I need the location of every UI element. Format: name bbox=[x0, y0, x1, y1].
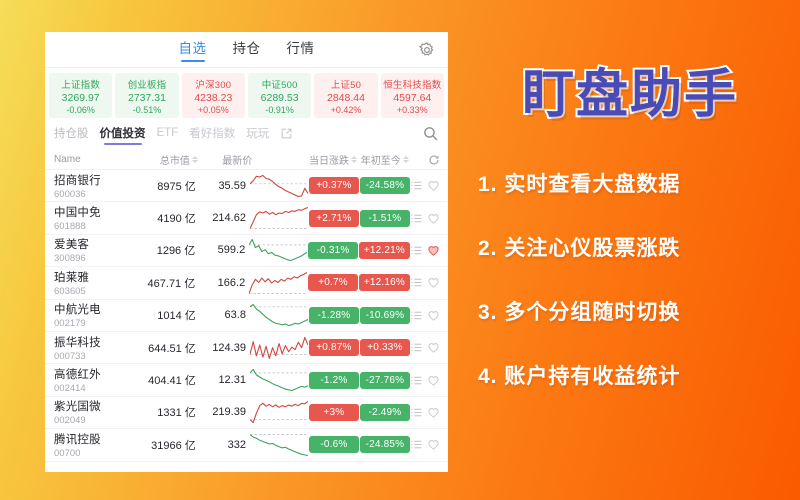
filter-tab-row: 持仓股 价值投资 ETF 看好指数 玩玩 bbox=[45, 122, 448, 150]
stock-sparkline-chart bbox=[250, 367, 308, 393]
stock-code: 000733 bbox=[54, 351, 137, 362]
stock-ytd-change-cell: +12.21% bbox=[359, 242, 410, 259]
index-card-zz500[interactable]: 中证500 6289.53 -0.91% bbox=[248, 73, 311, 118]
stock-identity: 腾讯控股00700 bbox=[54, 431, 137, 459]
sort-icon[interactable] bbox=[403, 156, 409, 163]
list-menu-icon[interactable] bbox=[410, 244, 423, 257]
ytd-change-badge: -1.51% bbox=[360, 210, 410, 227]
promo-panel: 盯盘助手 1. 实时查看大盘数据 2. 关注心仪股票涨跌 3. 多个分组随时切换… bbox=[460, 0, 800, 500]
favorite-heart-icon[interactable] bbox=[427, 309, 440, 322]
list-menu-icon[interactable] bbox=[410, 212, 423, 225]
index-value: 6289.53 bbox=[261, 92, 299, 104]
index-value: 4597.64 bbox=[393, 92, 431, 104]
index-name: 沪深300 bbox=[195, 77, 231, 91]
promo-title: 盯盘助手 bbox=[460, 52, 800, 127]
stock-sparkline-chart bbox=[250, 335, 308, 361]
table-row[interactable]: 中国中免6018884190 亿214.62+2.71%-1.51% bbox=[45, 202, 448, 234]
row-actions bbox=[410, 244, 440, 257]
row-actions bbox=[410, 212, 440, 225]
table-row[interactable]: 招商银行6000368975 亿35.59+0.37%-24.58% bbox=[45, 170, 448, 202]
index-name: 中证500 bbox=[262, 77, 298, 91]
day-change-badge: -1.28% bbox=[309, 307, 359, 324]
ytd-change-badge: -24.85% bbox=[360, 436, 410, 453]
stock-market-cap: 644.51 亿 bbox=[137, 340, 196, 356]
stock-ytd-change-cell: -27.76% bbox=[360, 372, 410, 389]
col-header-price-label: 最新价 bbox=[222, 152, 252, 167]
list-menu-icon[interactable] bbox=[410, 438, 423, 451]
stock-ytd-change-cell: -1.51% bbox=[360, 210, 410, 227]
favorite-heart-icon[interactable] bbox=[427, 244, 440, 257]
stock-market-cap: 4190 亿 bbox=[137, 210, 196, 226]
day-change-badge: +3% bbox=[309, 404, 359, 421]
filter-tab-jiazhitouzi[interactable]: 价值投资 bbox=[100, 125, 146, 145]
row-actions bbox=[410, 309, 440, 322]
stock-day-change-cell: +3% bbox=[308, 404, 360, 421]
stock-name: 中航光电 bbox=[54, 301, 137, 317]
index-change: +0.05% bbox=[198, 105, 229, 115]
index-name: 创业板指 bbox=[128, 77, 167, 91]
stock-sparkline-chart bbox=[250, 399, 308, 425]
index-strip: 上证指数 3269.97 -0.06% 创业板指 2737.31 -0.51% … bbox=[45, 68, 448, 122]
row-actions bbox=[410, 406, 440, 419]
stock-market-cap: 1014 亿 bbox=[137, 307, 196, 323]
ytd-change-badge: -10.69% bbox=[360, 307, 410, 324]
index-card-szzs[interactable]: 上证指数 3269.97 -0.06% bbox=[49, 73, 112, 118]
table-body: 招商银行6000368975 亿35.59+0.37%-24.58%中国中免60… bbox=[45, 170, 448, 462]
table-header-row: Name 总市值 最新价 当日涨跌 年初至今 bbox=[45, 150, 448, 170]
stock-name: 招商银行 bbox=[54, 172, 137, 188]
col-header-market-cap-label: 总市值 bbox=[160, 152, 190, 167]
col-header-name: Name bbox=[54, 154, 138, 165]
index-change: +0.33% bbox=[397, 105, 428, 115]
tab-zixuan[interactable]: 自选 bbox=[179, 37, 207, 62]
favorite-heart-icon[interactable] bbox=[427, 276, 440, 289]
stock-code: 002179 bbox=[54, 318, 137, 329]
stock-sparkline-chart bbox=[250, 302, 308, 328]
row-actions bbox=[410, 179, 440, 192]
index-value: 4238.23 bbox=[194, 92, 232, 104]
ytd-change-badge: +0.33% bbox=[360, 339, 410, 356]
stock-sparkline-chart bbox=[250, 173, 308, 199]
table-row[interactable]: 腾讯控股0070031966 亿332-0.6%-24.85% bbox=[45, 429, 448, 461]
filter-tab-wanwan[interactable]: 玩玩 bbox=[246, 125, 269, 145]
col-header-price[interactable]: 最新价 bbox=[198, 152, 252, 167]
refresh-icon[interactable] bbox=[410, 154, 440, 166]
row-actions bbox=[410, 341, 440, 354]
stock-day-change-cell: -0.6% bbox=[308, 436, 360, 453]
stock-code: 002414 bbox=[54, 383, 137, 394]
list-menu-icon[interactable] bbox=[410, 179, 423, 192]
stock-price: 219.39 bbox=[196, 406, 250, 418]
favorite-heart-icon[interactable] bbox=[427, 179, 440, 192]
stock-market-cap: 467.71 亿 bbox=[137, 275, 196, 291]
stock-identity: 招商银行600036 bbox=[54, 172, 137, 200]
list-menu-icon[interactable] bbox=[410, 374, 423, 387]
stock-identity: 高德红外002414 bbox=[54, 366, 137, 394]
list-menu-icon[interactable] bbox=[410, 309, 423, 322]
index-value: 2737.31 bbox=[128, 92, 166, 104]
day-change-badge: -0.6% bbox=[309, 436, 359, 453]
day-change-badge: +0.87% bbox=[309, 339, 359, 356]
stock-name: 高德红外 bbox=[54, 366, 137, 382]
stock-ytd-change-cell: -24.58% bbox=[360, 177, 410, 194]
stock-identity: 珀莱雅603605 bbox=[54, 269, 137, 297]
stock-day-change-cell: -1.2% bbox=[308, 372, 360, 389]
stock-app-card: 自选 持仓 行情 上证指数 3269.97 -0.06% 创业板指 2737.3… bbox=[45, 32, 448, 472]
filter-tab-chicanggu[interactable]: 持仓股 bbox=[54, 125, 89, 145]
index-name: 恒生科技指数 bbox=[383, 77, 441, 91]
list-menu-icon[interactable] bbox=[410, 341, 423, 354]
row-actions bbox=[410, 374, 440, 387]
index-change: -0.06% bbox=[66, 105, 95, 115]
stock-price: 63.8 bbox=[196, 309, 250, 321]
promo-feature-1: 1. 实时查看大盘数据 bbox=[478, 168, 680, 198]
stock-code: 002049 bbox=[54, 415, 137, 426]
table-row[interactable]: 振华科技000733644.51 亿124.39+0.87%+0.33% bbox=[45, 332, 448, 364]
table-row[interactable]: 爱美客3008961296 亿599.2-0.31%+12.21% bbox=[45, 235, 448, 267]
promo-feature-4: 4. 账户持有收益统计 bbox=[478, 360, 680, 390]
stock-name: 珀莱雅 bbox=[54, 269, 137, 285]
stock-sparkline-chart bbox=[250, 205, 308, 231]
stock-table: Name 总市值 最新价 当日涨跌 年初至今 bbox=[45, 150, 448, 462]
stock-market-cap: 31966 亿 bbox=[137, 437, 196, 453]
index-card-cybz[interactable]: 创业板指 2737.31 -0.51% bbox=[115, 73, 178, 118]
table-row[interactable]: 中航光电0021791014 亿63.8-1.28%-10.69% bbox=[45, 300, 448, 332]
col-header-name-label: Name bbox=[54, 154, 81, 165]
stock-code: 00700 bbox=[54, 448, 137, 459]
stock-identity: 爱美客300896 bbox=[54, 236, 137, 264]
stock-ytd-change-cell: -24.85% bbox=[360, 436, 410, 453]
stock-day-change-cell: +2.71% bbox=[308, 210, 360, 227]
row-actions bbox=[410, 276, 440, 289]
app-header: 自选 持仓 行情 bbox=[45, 32, 448, 68]
col-header-ytd-change[interactable]: 年初至今 bbox=[359, 152, 410, 167]
day-change-badge: +0.7% bbox=[308, 274, 358, 291]
ytd-change-badge: +12.16% bbox=[359, 274, 410, 291]
day-change-badge: -0.31% bbox=[308, 242, 358, 259]
sort-icon[interactable] bbox=[192, 156, 198, 163]
ytd-change-badge: -27.76% bbox=[360, 372, 410, 389]
table-row[interactable]: 高德红外002414404.41 亿12.31-1.2%-27.76% bbox=[45, 364, 448, 396]
tab-hangqing[interactable]: 行情 bbox=[287, 37, 315, 62]
stock-market-cap: 8975 亿 bbox=[137, 178, 196, 194]
stock-day-change-cell: +0.7% bbox=[307, 274, 359, 291]
stock-code: 601888 bbox=[54, 221, 137, 232]
stock-code: 600036 bbox=[54, 189, 137, 200]
col-header-day-change-label: 当日涨跌 bbox=[309, 152, 349, 167]
stock-sparkline-chart bbox=[249, 237, 307, 263]
stock-name: 紫光国微 bbox=[54, 398, 137, 414]
stock-identity: 中航光电002179 bbox=[54, 301, 137, 329]
stock-market-cap: 1296 亿 bbox=[137, 242, 196, 258]
favorite-heart-icon[interactable] bbox=[427, 406, 440, 419]
stock-price: 332 bbox=[196, 439, 250, 451]
stock-market-cap: 404.41 亿 bbox=[137, 372, 196, 388]
ytd-change-badge: -2.49% bbox=[360, 404, 410, 421]
col-header-market-cap[interactable]: 总市值 bbox=[138, 152, 198, 167]
stock-price: 166.2 bbox=[195, 277, 249, 289]
gear-icon[interactable] bbox=[418, 41, 436, 59]
stock-price: 12.31 bbox=[196, 374, 250, 386]
index-card-hstech[interactable]: 恒生科技指数 4597.64 +0.33% bbox=[381, 73, 444, 118]
stock-identity: 振华科技000733 bbox=[54, 334, 137, 362]
search-icon[interactable] bbox=[422, 125, 439, 142]
index-change: -0.91% bbox=[265, 105, 294, 115]
stock-name: 腾讯控股 bbox=[54, 431, 137, 447]
stock-price: 35.59 bbox=[196, 180, 250, 192]
index-change: -0.51% bbox=[133, 105, 162, 115]
index-change: +0.42% bbox=[331, 105, 362, 115]
filter-tab-etf[interactable]: ETF bbox=[157, 127, 179, 143]
index-name: 上证50 bbox=[331, 77, 361, 91]
stock-name: 振华科技 bbox=[54, 334, 137, 350]
favorite-heart-icon[interactable] bbox=[427, 212, 440, 225]
stock-name: 中国中免 bbox=[54, 204, 137, 220]
stock-price: 214.62 bbox=[196, 212, 250, 224]
stock-price: 599.2 bbox=[195, 244, 249, 256]
stock-day-change-cell: -0.31% bbox=[307, 242, 359, 259]
ytd-change-badge: -24.58% bbox=[360, 177, 410, 194]
promo-feature-3: 3. 多个分组随时切换 bbox=[478, 296, 680, 326]
favorite-heart-icon[interactable] bbox=[427, 341, 440, 354]
stock-ytd-change-cell: -10.69% bbox=[360, 307, 410, 324]
tab-chicang[interactable]: 持仓 bbox=[233, 37, 261, 62]
stock-ytd-change-cell: +0.33% bbox=[360, 339, 410, 356]
list-menu-icon[interactable] bbox=[410, 276, 423, 289]
ytd-change-badge: +12.21% bbox=[359, 242, 410, 259]
col-header-day-change[interactable]: 当日涨跌 bbox=[307, 152, 360, 167]
index-value: 3269.97 bbox=[62, 92, 100, 104]
col-header-ytd-change-label: 年初至今 bbox=[361, 152, 401, 167]
stock-identity: 中国中免601888 bbox=[54, 204, 137, 232]
stock-sparkline-chart bbox=[250, 432, 308, 458]
day-change-badge: +0.37% bbox=[309, 177, 359, 194]
day-change-badge: +2.71% bbox=[309, 210, 359, 227]
favorite-heart-icon[interactable] bbox=[427, 438, 440, 451]
edit-icon[interactable] bbox=[280, 127, 293, 140]
index-card-hs300[interactable]: 沪深300 4238.23 +0.05% bbox=[182, 73, 245, 118]
index-card-sz50[interactable]: 上证50 2848.44 +0.42% bbox=[314, 73, 377, 118]
stock-name: 爱美客 bbox=[54, 236, 137, 252]
favorite-heart-icon[interactable] bbox=[427, 374, 440, 387]
day-change-badge: -1.2% bbox=[309, 372, 359, 389]
stock-code: 300896 bbox=[54, 253, 137, 264]
stock-price: 124.39 bbox=[196, 342, 250, 354]
promo-feature-2: 2. 关注心仪股票涨跌 bbox=[478, 232, 680, 262]
stock-day-change-cell: +0.87% bbox=[308, 339, 360, 356]
list-menu-icon[interactable] bbox=[410, 406, 423, 419]
sort-icon[interactable] bbox=[351, 156, 357, 163]
row-actions bbox=[410, 438, 440, 451]
table-row[interactable]: 紫光国微0020491331 亿219.39+3%-2.49% bbox=[45, 397, 448, 429]
index-value: 2848.44 bbox=[327, 92, 365, 104]
stock-ytd-change-cell: -2.49% bbox=[360, 404, 410, 421]
promo-feature-list: 1. 实时查看大盘数据 2. 关注心仪股票涨跌 3. 多个分组随时切换 4. 账… bbox=[478, 168, 680, 390]
stock-sparkline-chart bbox=[249, 270, 307, 296]
index-name: 上证指数 bbox=[61, 77, 100, 91]
filter-tab-kanhaozhishu[interactable]: 看好指数 bbox=[189, 125, 235, 145]
table-row[interactable]: 珀莱雅603605467.71 亿166.2+0.7%+12.16% bbox=[45, 267, 448, 299]
stock-identity: 紫光国微002049 bbox=[54, 398, 137, 426]
stock-ytd-change-cell: +12.16% bbox=[359, 274, 410, 291]
stock-code: 603605 bbox=[54, 286, 137, 297]
stock-day-change-cell: +0.37% bbox=[308, 177, 360, 194]
stock-market-cap: 1331 亿 bbox=[137, 404, 196, 420]
stock-day-change-cell: -1.28% bbox=[308, 307, 360, 324]
